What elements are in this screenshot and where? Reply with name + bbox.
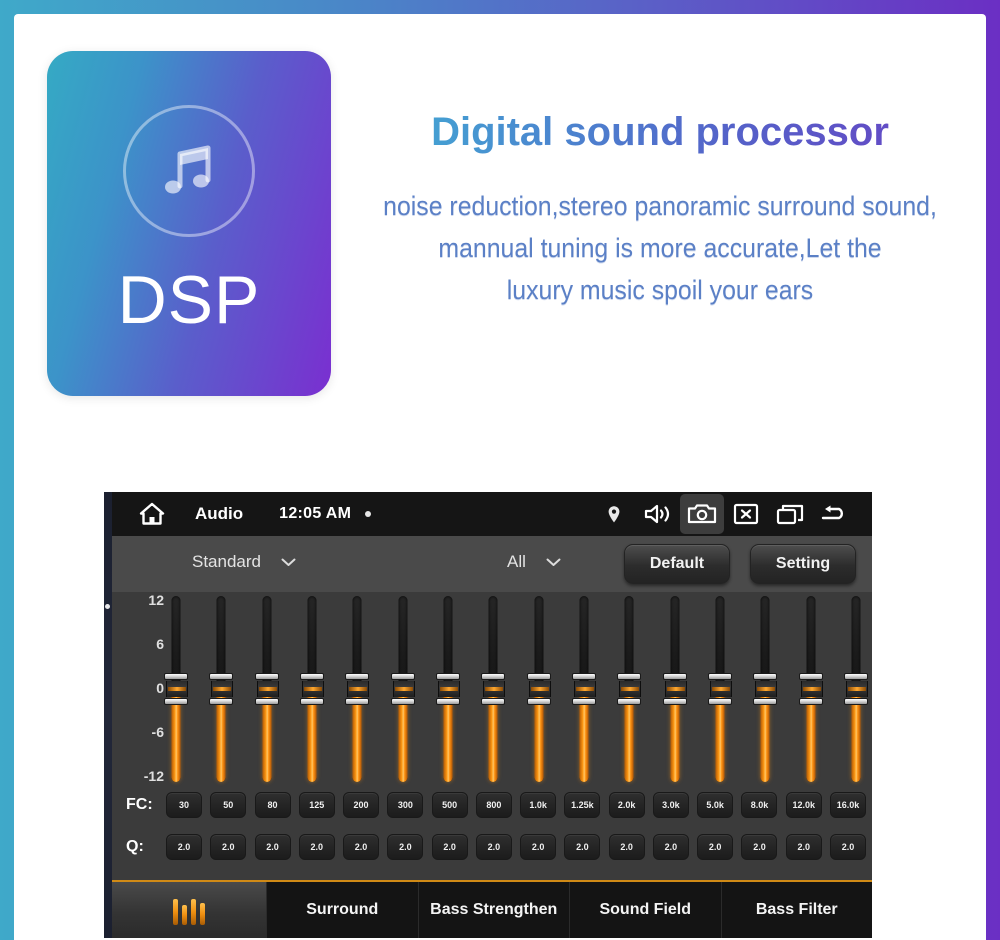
tab-label: Bass Filter: [756, 901, 838, 919]
q-cell[interactable]: 2.0: [697, 834, 733, 860]
eq-slider-knob[interactable]: [436, 673, 460, 705]
q-cell[interactable]: 2.0: [476, 834, 512, 860]
eq-slider[interactable]: [574, 596, 594, 782]
eq-slider-knob[interactable]: [799, 673, 823, 705]
clock: 12:05 AM: [279, 505, 351, 523]
eq-slider[interactable]: [846, 596, 866, 782]
fc-cell[interactable]: 300: [387, 792, 423, 818]
eq-slider-knob[interactable]: [481, 673, 505, 705]
eq-slider[interactable]: [257, 596, 277, 782]
hero-copy: Digital sound processor noise reduction,…: [334, 14, 986, 434]
fc-cell[interactable]: 1.0k: [520, 792, 556, 818]
eq-slider-knob[interactable]: [391, 673, 415, 705]
device-screen: Audio 12:05 AM: [112, 492, 872, 938]
q-cell[interactable]: 2.0: [520, 834, 556, 860]
fc-cell[interactable]: 800: [476, 792, 512, 818]
device-bezel: [104, 492, 112, 938]
music-note-icon: [154, 136, 224, 206]
tab-label: Surround: [306, 901, 378, 919]
tab-label: Bass Strengthen: [430, 901, 557, 919]
head-unit-device: Audio 12:05 AM: [104, 492, 872, 938]
fc-cell[interactable]: 1.25k: [564, 792, 600, 818]
eq-slider[interactable]: [393, 596, 413, 782]
eq-slider-knob[interactable]: [255, 673, 279, 705]
eq-slider-knob[interactable]: [345, 673, 369, 705]
bottom-tab-bar: SurroundBass StrengthenSound FieldBass F…: [112, 880, 872, 938]
fc-cell[interactable]: 30: [166, 792, 202, 818]
eq-slider[interactable]: [665, 596, 685, 782]
tab-bass-filter[interactable]: Bass Filter: [722, 882, 873, 938]
q-cell[interactable]: 2.0: [255, 834, 291, 860]
q-cell[interactable]: 2.0: [653, 834, 689, 860]
setting-button[interactable]: Setting: [750, 544, 856, 584]
eq-slider[interactable]: [755, 596, 775, 782]
fc-cell[interactable]: 8.0k: [741, 792, 777, 818]
page-frame: DSP Digital sound processor noise reduct…: [0, 0, 1000, 940]
eq-slider[interactable]: [710, 596, 730, 782]
volume-icon[interactable]: [636, 492, 680, 536]
gain-tick: 6: [130, 636, 164, 652]
q-cell[interactable]: 2.0: [741, 834, 777, 860]
location-pin-icon[interactable]: [592, 492, 636, 536]
page-title: Digital sound processor: [334, 110, 986, 155]
chevron-down-icon: [546, 558, 561, 567]
tab-sound-field[interactable]: Sound Field: [570, 882, 722, 938]
gain-tick: -6: [130, 724, 164, 740]
chevron-down-icon: [281, 558, 296, 567]
q-cell[interactable]: 2.0: [166, 834, 202, 860]
eq-slider[interactable]: [801, 596, 821, 782]
channel-dropdown-value: All: [507, 552, 526, 572]
recent-apps-icon[interactable]: [768, 492, 812, 536]
eq-slider[interactable]: [438, 596, 458, 782]
hero-subtitle-line-1: noise reduction,stereo panoramic surroun…: [360, 186, 960, 228]
q-cell[interactable]: 2.0: [432, 834, 468, 860]
tab-equalizer[interactable]: [112, 882, 267, 938]
fc-cell[interactable]: 50: [210, 792, 246, 818]
q-cell[interactable]: 2.0: [830, 834, 866, 860]
fc-row-label: FC:: [126, 796, 153, 814]
q-cells: 2.02.02.02.02.02.02.02.02.02.02.02.02.02…: [166, 834, 866, 860]
preset-dropdown-value: Standard: [192, 552, 261, 572]
status-bar: Audio 12:05 AM: [112, 492, 872, 536]
preset-dropdown[interactable]: Standard: [192, 552, 296, 572]
eq-slider-knob[interactable]: [527, 673, 551, 705]
q-cell[interactable]: 2.0: [387, 834, 423, 860]
fc-cell[interactable]: 125: [299, 792, 335, 818]
q-cell[interactable]: 2.0: [786, 834, 822, 860]
eq-slider-knob[interactable]: [164, 673, 188, 705]
eq-slider-knob[interactable]: [209, 673, 233, 705]
fc-cell[interactable]: 500: [432, 792, 468, 818]
preset-toolbar: Standard All Default Setting: [112, 536, 872, 592]
q-row-label: Q:: [126, 838, 144, 856]
eq-slider-group: [166, 596, 866, 782]
fc-cell[interactable]: 5.0k: [697, 792, 733, 818]
eq-slider[interactable]: [347, 596, 367, 782]
page-content: DSP Digital sound processor noise reduct…: [14, 14, 986, 940]
hero-subtitle: noise reduction,stereo panoramic surroun…: [360, 186, 960, 312]
gain-tick: 12: [130, 592, 164, 608]
camera-icon[interactable]: [680, 494, 724, 534]
tab-label: Sound Field: [599, 901, 691, 919]
close-box-icon[interactable]: [724, 492, 768, 536]
q-cell[interactable]: 2.0: [564, 834, 600, 860]
back-arrow-icon[interactable]: [812, 492, 856, 536]
eq-slider[interactable]: [302, 596, 322, 782]
default-button[interactable]: Default: [624, 544, 730, 584]
eq-slider[interactable]: [211, 596, 231, 782]
eq-slider-knob[interactable]: [300, 673, 324, 705]
tab-surround[interactable]: Surround: [267, 882, 419, 938]
q-cell[interactable]: 2.0: [299, 834, 335, 860]
fc-cell[interactable]: 200: [343, 792, 379, 818]
eq-slider-knob[interactable]: [708, 673, 732, 705]
eq-slider[interactable]: [483, 596, 503, 782]
bezel-indicator-dot: [105, 604, 110, 609]
hero-subtitle-line-3: luxury music spoil your ears: [360, 270, 960, 312]
home-icon[interactable]: [137, 499, 167, 529]
hero-subtitle-line-2: mannual tuning is more accurate,Let the: [360, 228, 960, 270]
status-dot-icon: [365, 511, 371, 517]
dsp-logo-text: DSP: [47, 266, 331, 334]
q-cell[interactable]: 2.0: [609, 834, 645, 860]
q-cell[interactable]: 2.0: [343, 834, 379, 860]
tab-bass-strengthen[interactable]: Bass Strengthen: [419, 882, 571, 938]
fc-cell[interactable]: 80: [255, 792, 291, 818]
q-cell[interactable]: 2.0: [210, 834, 246, 860]
gain-tick: -12: [130, 768, 164, 784]
eq-slider-knob[interactable]: [753, 673, 777, 705]
eq-slider-knob[interactable]: [844, 673, 868, 705]
eq-slider-knob[interactable]: [572, 673, 596, 705]
q-row: Q: 2.02.02.02.02.02.02.02.02.02.02.02.02…: [112, 830, 872, 864]
gain-axis: 1260-6-12: [130, 600, 164, 776]
logo-circle-outline: [123, 105, 255, 237]
eq-slider[interactable]: [166, 596, 186, 782]
eq-slider[interactable]: [619, 596, 639, 782]
fc-row: FC: 3050801252003005008001.0k1.25k2.0k3.…: [112, 788, 872, 822]
fc-cell[interactable]: 12.0k: [786, 792, 822, 818]
eq-slider-knob[interactable]: [617, 673, 641, 705]
gain-tick: 0: [130, 680, 164, 696]
dsp-logo-card: DSP: [47, 51, 331, 396]
fc-cell[interactable]: 2.0k: [609, 792, 645, 818]
hero-banner: DSP Digital sound processor noise reduct…: [14, 14, 986, 434]
eq-slider-knob[interactable]: [663, 673, 687, 705]
eq-slider[interactable]: [529, 596, 549, 782]
screen-title: Audio: [195, 504, 243, 524]
fc-cells: 3050801252003005008001.0k1.25k2.0k3.0k5.…: [166, 792, 866, 818]
equalizer-panel: 1260-6-12 FC: 3050801252003005008001.0k1…: [112, 592, 872, 882]
fc-cell[interactable]: 3.0k: [653, 792, 689, 818]
fc-cell[interactable]: 16.0k: [830, 792, 866, 818]
channel-dropdown[interactable]: All: [507, 552, 561, 572]
equalizer-icon: [173, 895, 205, 925]
